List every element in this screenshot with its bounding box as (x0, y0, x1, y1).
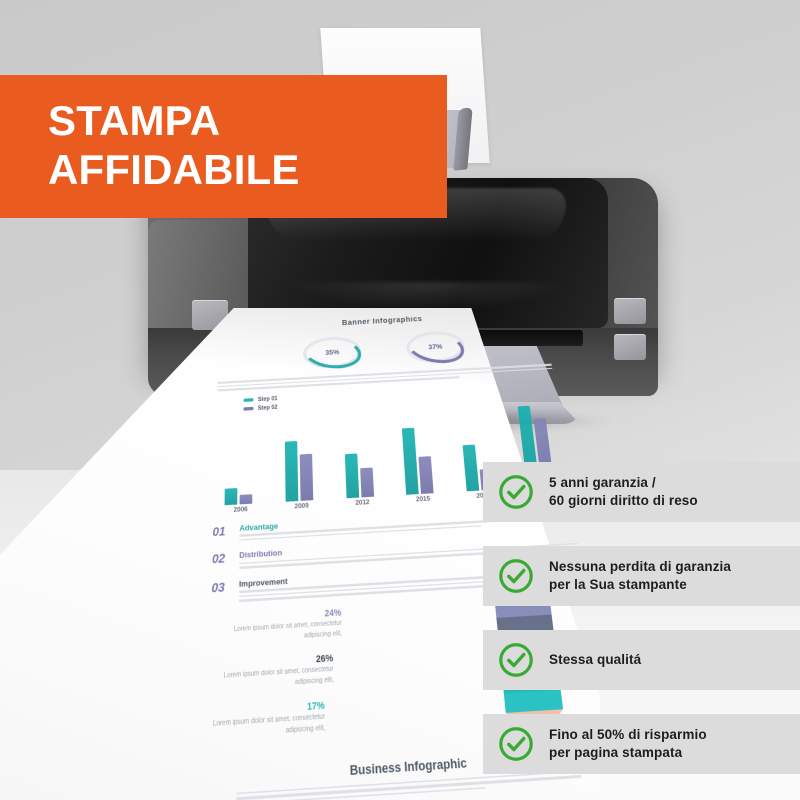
printer-lid-highlight-secondary (288, 282, 568, 312)
feature-label-line: Nessuna perdita di garanzia (549, 558, 731, 576)
feature-item-1[interactable]: 5 anni garanzia /60 giorni diritto di re… (483, 462, 800, 522)
headline-line-2: AFFIDABILE (48, 146, 437, 195)
bar-step-01-2012 (344, 453, 358, 498)
bar-step-01-2015 (402, 427, 419, 494)
feature-item-2[interactable]: Nessuna perdita di garanziaper la Sua st… (483, 546, 800, 606)
feature-label-line: Stessa qualitá (549, 651, 641, 669)
feature-label-1: 5 anni garanzia /60 giorni diritto di re… (549, 474, 698, 510)
legend-label-step-02: Step 02 (258, 404, 278, 412)
check-circle-icon (497, 473, 535, 511)
x-tick-2009: 2009 (279, 501, 325, 511)
headline-banner: STAMPA AFFIDABILE (0, 75, 447, 218)
feature-label-3: Stessa qualitá (549, 651, 641, 669)
feature-label-line: 60 giorni diritto di reso (549, 492, 698, 510)
pyramid-label-1: 24% Lorem ipsum dolor sit amet, consecte… (215, 608, 342, 647)
bar-group-2009 (278, 410, 325, 501)
bar-group-2012 (336, 407, 385, 498)
poster-canvas: Banner Infographics 35% 37% Step 01 (0, 0, 800, 800)
pyramid-label-2: 26% Lorem ipsum dolor sit amet, consecte… (205, 654, 334, 694)
bar-step-02-2009 (299, 453, 313, 500)
legend-swatch-step-01 (244, 398, 254, 402)
legend-label-step-01: Step 01 (258, 395, 278, 403)
x-tick-2015: 2015 (400, 494, 446, 504)
feature-label-line: 5 anni garanzia / (549, 474, 698, 492)
step-number-02: 02 (212, 552, 231, 567)
bar-step-01-2009 (285, 440, 298, 501)
bar-step-02-2006 (240, 494, 253, 504)
headline-line-1: STAMPA (48, 97, 437, 146)
bar-step-01-2006 (225, 487, 238, 504)
feature-label-2: Nessuna perdita di garanziaper la Sua st… (549, 558, 731, 594)
bar-group-2015 (394, 404, 445, 495)
bar-step-02-2015 (419, 456, 434, 494)
donut-value-1: 35% (325, 348, 339, 356)
feature-label-line: Fino al 50% di risparmio (549, 726, 707, 744)
bar-step-02-2012 (360, 467, 374, 497)
feature-item-4[interactable]: Fino al 50% di risparmioper pagina stamp… (483, 714, 800, 774)
donut-chart-2: 37% (405, 330, 465, 364)
bar-group-2006 (218, 413, 264, 505)
step-number-01: 01 (212, 525, 231, 539)
donut-value-2: 37% (428, 343, 443, 351)
donut-chart-1: 35% (303, 335, 362, 369)
check-circle-icon (497, 641, 535, 679)
check-circle-icon (497, 557, 535, 595)
step-number-03: 03 (211, 580, 230, 595)
x-tick-2012: 2012 (339, 498, 385, 508)
printer-control-button-1[interactable] (614, 298, 646, 324)
x-tick-2006: 2006 (217, 505, 263, 515)
feature-list: 5 anni garanzia /60 giorni diritto di re… (483, 462, 800, 774)
feature-label-4: Fino al 50% di risparmioper pagina stamp… (549, 726, 707, 762)
feature-label-line: per pagina stampata (549, 744, 707, 762)
legend-swatch-step-02 (243, 407, 253, 411)
printer-control-button-2[interactable] (614, 334, 646, 360)
check-circle-icon (497, 725, 535, 763)
feature-label-line: per la Sua stampante (549, 576, 731, 594)
bar-step-01-2018 (463, 444, 480, 491)
pyramid-label-3: 17% Lorem ipsum dolor sit amet, consecte… (193, 701, 325, 743)
feature-item-3[interactable]: Stessa qualitá (483, 630, 800, 690)
